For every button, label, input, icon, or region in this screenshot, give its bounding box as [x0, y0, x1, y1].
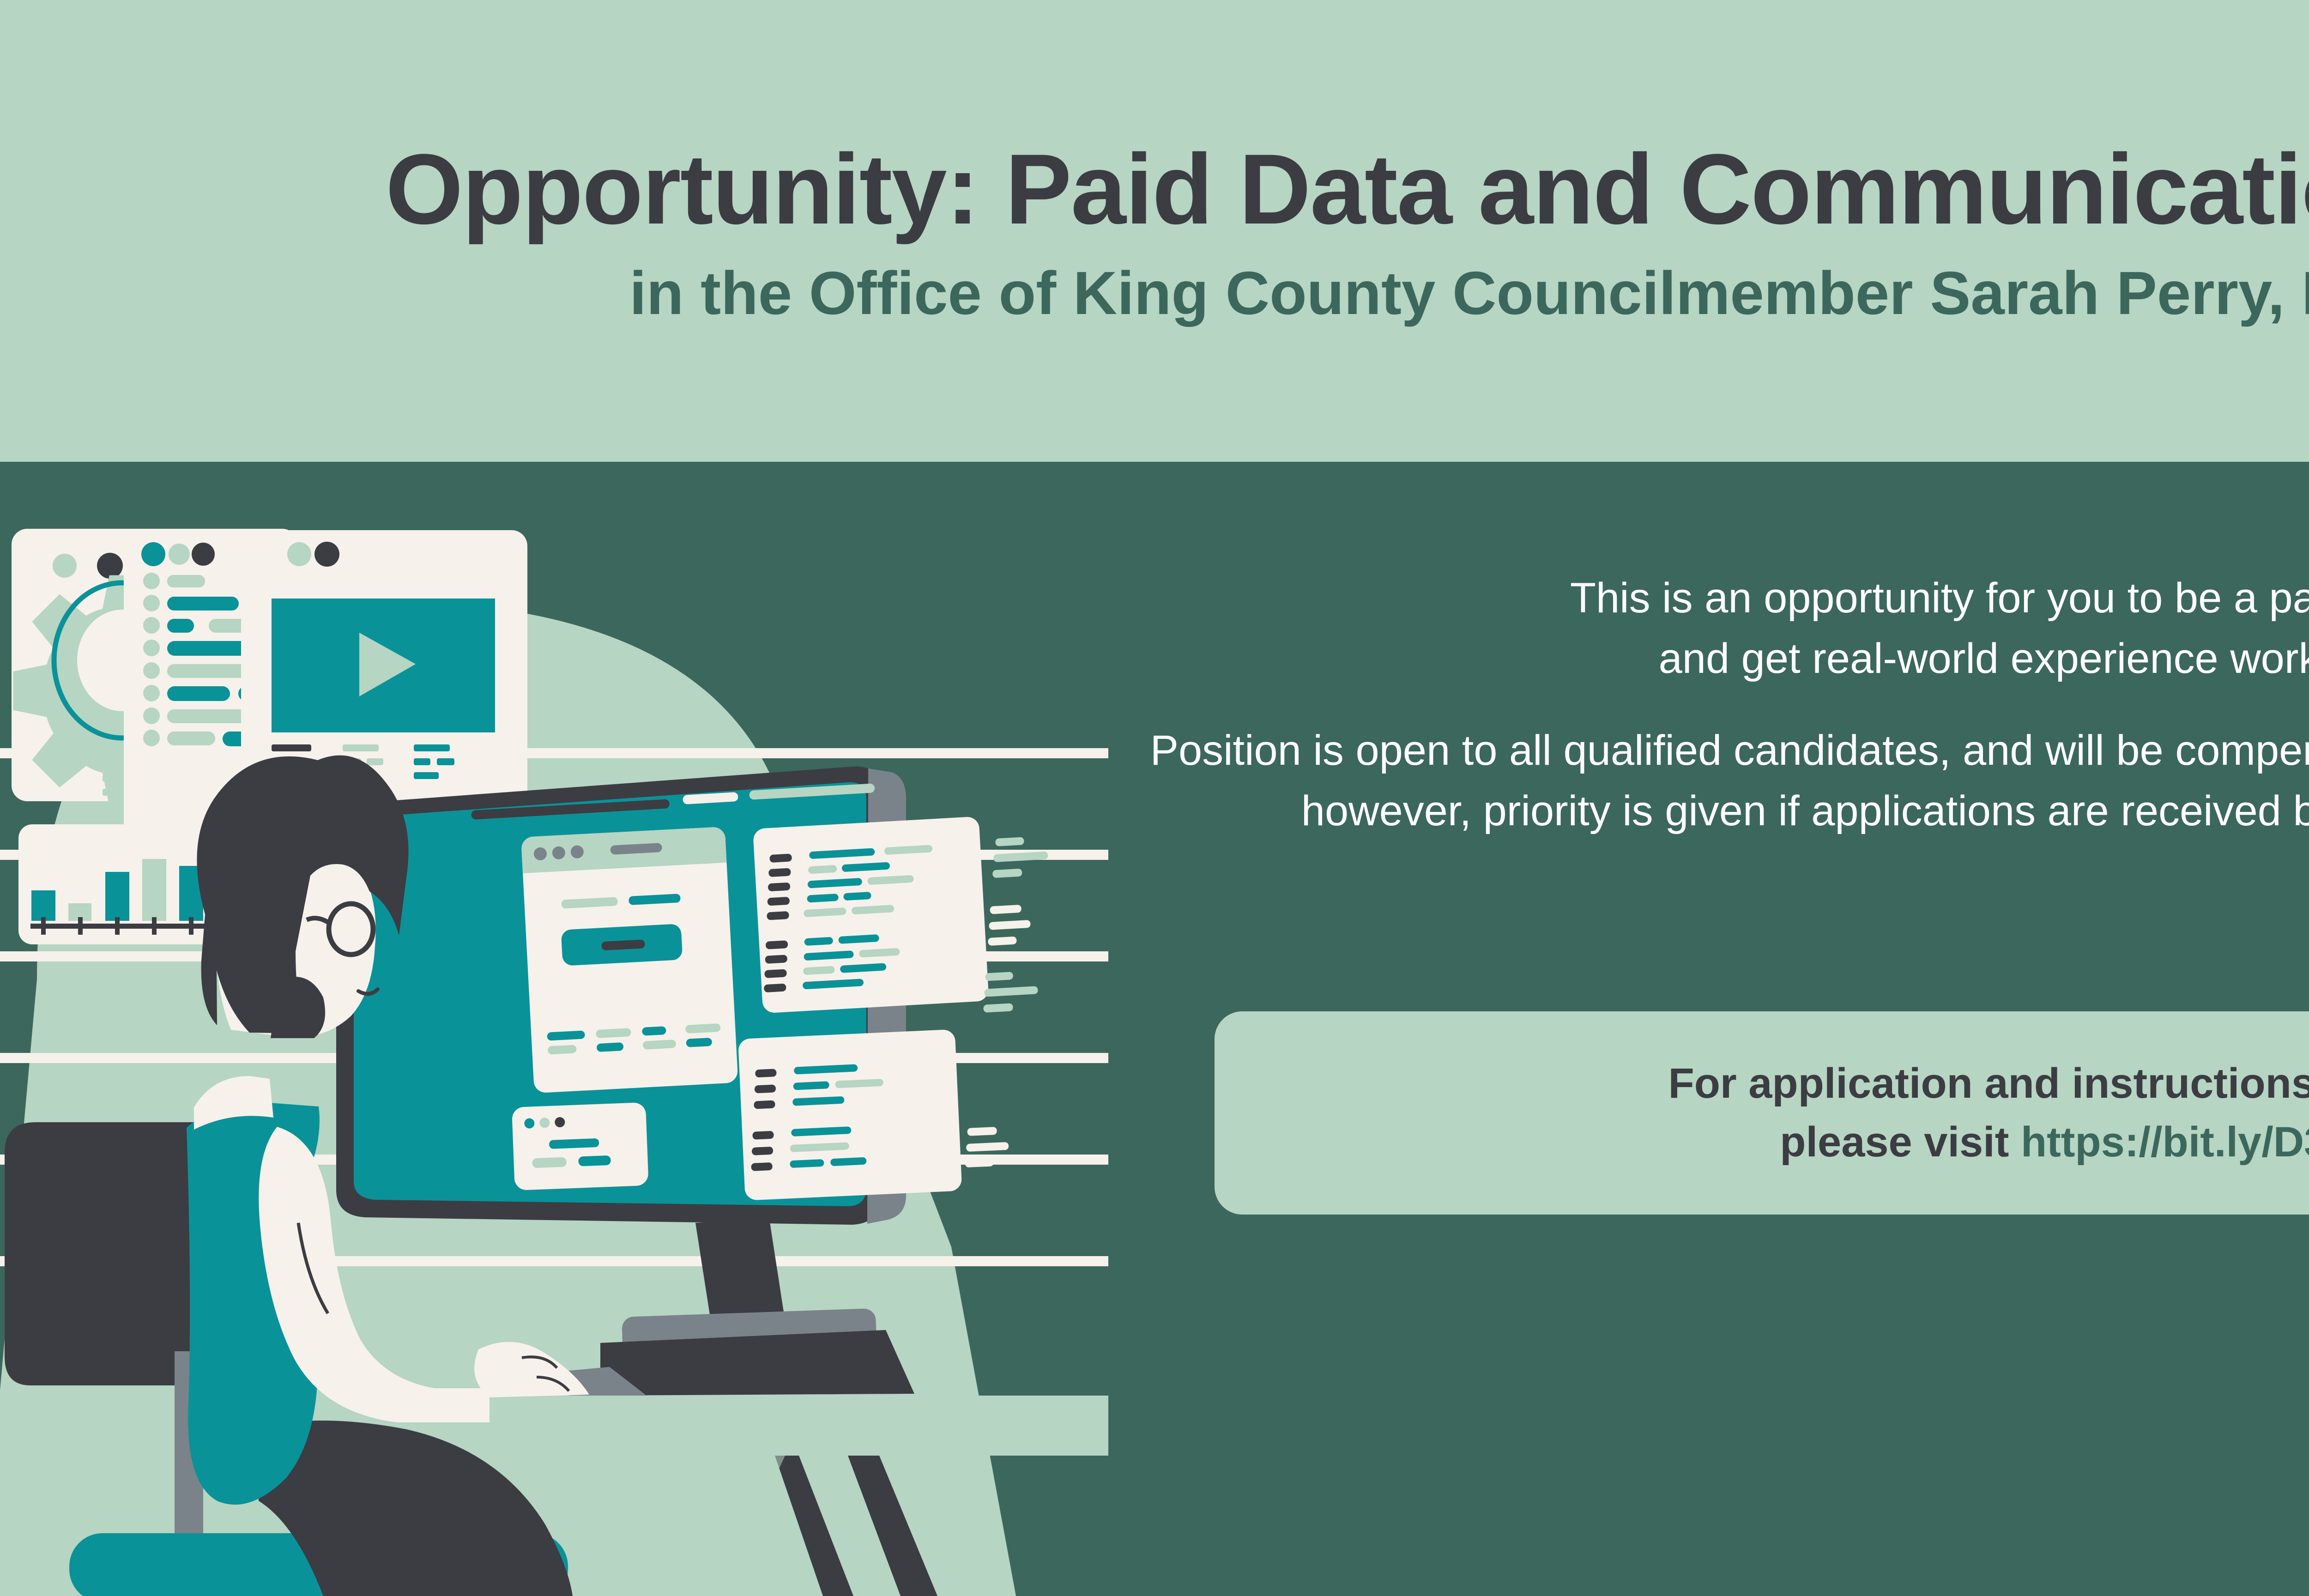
app-window-panel	[521, 827, 738, 1093]
cta-line-2: please visit https://bit.ly/D3-Internshi…	[1780, 1113, 2309, 1172]
header-banner: Opportunity: Paid Data and Communication…	[0, 0, 2309, 462]
card-dot-mint	[287, 542, 311, 566]
code-panel-right	[753, 816, 989, 1014]
copy-panel: This is an opportunity for you to be a p…	[1136, 462, 2309, 1596]
bar-chart-card	[18, 824, 226, 944]
page-subtitle: in the Office of King County Councilmemb…	[629, 260, 2309, 326]
intro-paragraph: This is an opportunity for you to be a p…	[1136, 568, 2309, 689]
poster-root: Opportunity: Paid Data and Communication…	[0, 0, 2309, 1596]
code-panel-lower	[738, 1029, 962, 1201]
monitor-stand-neck	[695, 1219, 785, 1324]
details-paragraph: Position is open to all qualified candid…	[1136, 720, 2309, 841]
cta-prefix: please visit	[1780, 1118, 2021, 1166]
application-url[interactable]: https://bit.ly/D3-Internship	[2021, 1118, 2309, 1166]
apply-callout-box[interactable]: For application and instructions on how …	[1215, 1011, 2309, 1215]
cta-line-1: For application and instructions on how …	[1668, 1054, 2309, 1113]
intro-line-1: This is an opportunity for you to be a p…	[1570, 574, 2309, 622]
details-part-1: Position is open to all qualified candid…	[1150, 727, 2309, 774]
chat-panel	[512, 1102, 649, 1191]
card-dot-dark	[314, 542, 339, 567]
intro-line-2: and get real-world experience working in…	[1659, 635, 2309, 682]
desk-top	[0, 1396, 1108, 1456]
card-dot-mint	[169, 544, 190, 565]
workspace-illustration	[0, 462, 1108, 1596]
card-dot-mint	[53, 554, 77, 578]
card-dot-dark	[97, 553, 123, 579]
illustration-panel	[0, 462, 1108, 1596]
page-title: Opportunity: Paid Data and Communication…	[386, 135, 2309, 243]
card-dot-teal	[141, 542, 165, 566]
card-dot-dark	[192, 543, 215, 566]
